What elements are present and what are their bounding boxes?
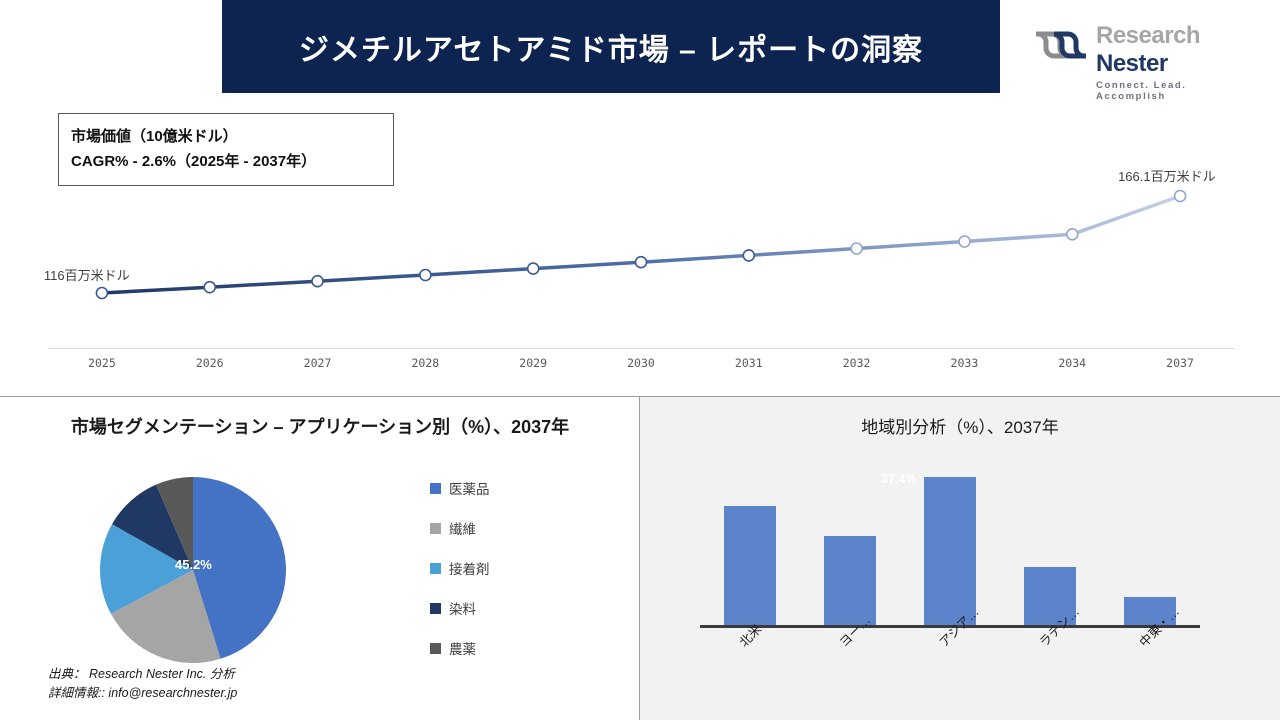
logo-word-nester: Nester [1096, 50, 1168, 77]
line-data-point [528, 263, 539, 274]
line-chart-x-tick-labels: 2025202620272028202920302031203220332034… [48, 356, 1234, 380]
logo-text: Research Nester Connect. Lead. Accomplis… [1096, 22, 1252, 102]
pie-legend-label: 接着剤 [449, 558, 490, 578]
line-data-point [851, 243, 862, 254]
legend-swatch-icon [430, 563, 441, 574]
pie-legend-item[interactable]: 医薬品 [430, 478, 540, 498]
x-tick-label: 2034 [1018, 356, 1126, 380]
pie-chart-title: 市場セグメンテーション – アプリケーション別（%）、2037年 [70, 414, 570, 442]
logo-mark-icon [1032, 28, 1090, 62]
x-tick-label: 2030 [587, 356, 695, 380]
pie-legend-item[interactable]: 接着剤 [430, 558, 540, 578]
page-header: ジメチルアセトアミド市場 – レポートの洞察 Research Nester C… [0, 0, 1280, 96]
pie-legend-label: 医薬品 [449, 478, 490, 498]
line-end-value-label: 166.1百万米ドル [1118, 166, 1216, 185]
legend-swatch-icon [430, 643, 441, 654]
line-data-point [1067, 229, 1078, 240]
x-tick-label: 2032 [803, 356, 911, 380]
x-tick-label: 2027 [264, 356, 372, 380]
source-line-2: 詳細情報:: info@researchnester.jp [48, 684, 237, 703]
regional-analysis-panel: 地域別分析（%）、2037年 37.4% 北米ヨー…アジア…ラテン…中東・… [640, 397, 1280, 720]
pie-legend-item[interactable]: 繊維 [430, 518, 540, 538]
line-data-point [96, 288, 107, 299]
line-data-point [312, 276, 323, 287]
line-chart-axis [48, 348, 1234, 349]
bar-chart-title: 地域別分析（%）、2037年 [640, 413, 1280, 438]
source-note: 出典： Research Nester Inc. 分析 詳細情報:: info@… [48, 665, 237, 703]
pie-legend-item[interactable]: 染料 [430, 598, 540, 618]
market-value-line-chart: 116百万米ドル 166.1百万米ドル 20252026202720282029… [0, 96, 1280, 396]
line-data-point [204, 282, 215, 293]
segmentation-panel: 市場セグメンテーション – アプリケーション別（%）、2037年 45.2% 医… [0, 397, 639, 720]
regional-bar-chart [700, 467, 1200, 627]
pie-legend-label: 農薬 [449, 638, 476, 658]
pie-legend: 医薬品繊維接着剤染料農薬 [430, 478, 540, 658]
line-series-markers [96, 191, 1185, 299]
line-data-point [636, 257, 647, 268]
logo-word-research: Research [1096, 22, 1200, 49]
x-tick-label: 2037 [1126, 356, 1234, 380]
bar-column [824, 536, 876, 627]
research-nester-logo: Research Nester Connect. Lead. Accomplis… [1032, 22, 1252, 74]
x-tick-label: 2025 [48, 356, 156, 380]
line-data-point [1175, 191, 1186, 202]
line-chart-svg [0, 96, 1280, 396]
line-data-point [743, 250, 754, 261]
bar-column [724, 506, 776, 627]
bar-highlight-label: 37.4% [881, 472, 916, 486]
line-data-point [420, 270, 431, 281]
line-start-value-label: 116百万米ドル [44, 265, 130, 284]
pie-legend-label: 繊維 [449, 518, 476, 538]
pie-legend-item[interactable]: 農薬 [430, 638, 540, 658]
x-tick-label: 2028 [371, 356, 479, 380]
legend-swatch-icon [430, 603, 441, 614]
page-title: ジメチルアセトアミド市場 – レポートの洞察 [299, 25, 923, 69]
legend-swatch-icon [430, 483, 441, 494]
source-line-1: 出典： Research Nester Inc. 分析 [48, 665, 237, 684]
x-tick-label: 2033 [911, 356, 1019, 380]
line-data-point [959, 236, 970, 247]
bar-chart-x-tick-labels: 北米ヨー…アジア…ラテン…中東・… [700, 631, 1200, 701]
x-tick-label: 2026 [156, 356, 264, 380]
x-tick-label: 2029 [479, 356, 587, 380]
pie-highlight-label: 45.2% [175, 557, 212, 572]
x-tick-label: 2031 [695, 356, 803, 380]
pie-legend-label: 染料 [449, 598, 476, 618]
legend-swatch-icon [430, 523, 441, 534]
header-title-band: ジメチルアセトアミド市場 – レポートの洞察 [222, 0, 1000, 93]
line-series-path [102, 196, 1180, 293]
